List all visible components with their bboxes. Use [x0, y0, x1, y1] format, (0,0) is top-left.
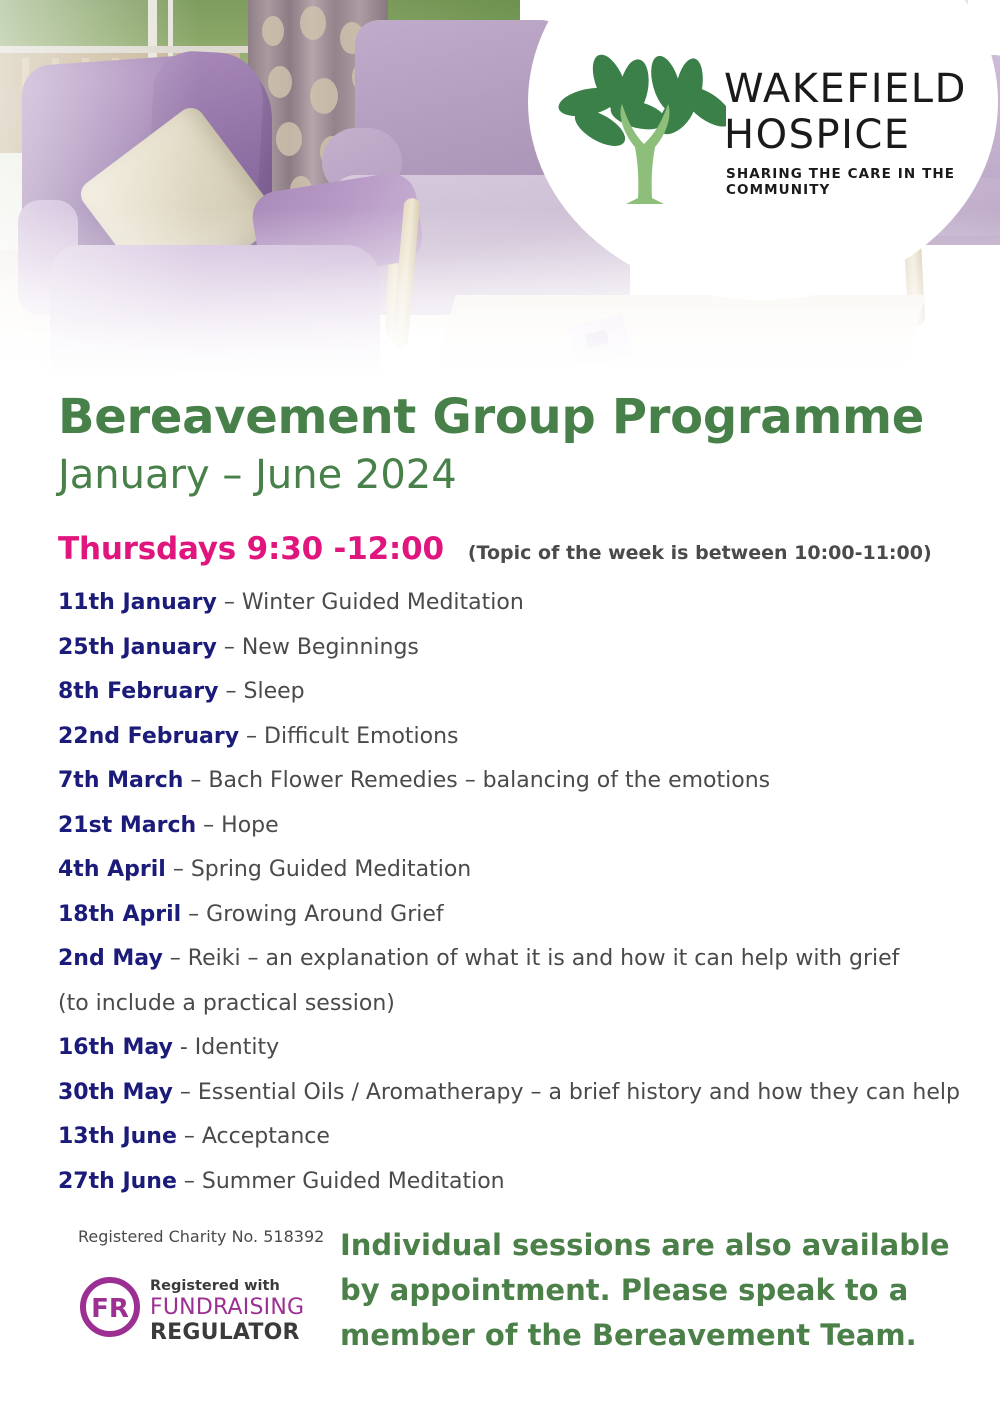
session-topic: – Hope	[196, 813, 279, 838]
session-date: 25th January	[58, 635, 217, 660]
session-date: 8th February	[58, 679, 219, 704]
fr-wordmark: Registered with FUNDRAISING REGULATOR	[150, 1277, 304, 1345]
wakefield-hospice-logo: WAKEFIELD HOSPICE SHARING THE CARE IN TH…	[556, 52, 976, 222]
session-topic: – New Beginnings	[217, 635, 419, 660]
schedule-time-heading: Thursdays 9:30 -12:00(Topic of the week …	[58, 531, 968, 565]
session-topic: – Growing Around Grief	[181, 902, 443, 927]
session-topic: – Acceptance	[177, 1124, 330, 1149]
session-topic: – Bach Flower Remedies – balancing of th…	[183, 768, 770, 793]
session-date: 16th May	[58, 1035, 173, 1060]
session-row: 21st March – Hope	[58, 813, 988, 858]
logo-name-line2: HOSPICE	[724, 112, 976, 158]
session-row: 16th May - Identity	[58, 1035, 988, 1080]
session-date: 27th June	[58, 1169, 177, 1194]
session-row: 2nd May – Reiki – an explanation of what…	[58, 946, 988, 991]
fr-line-regulator: REGULATOR	[150, 1320, 304, 1345]
session-row: 18th April – Growing Around Grief	[58, 902, 988, 947]
session-date: 7th March	[58, 768, 183, 793]
session-topic: – Summer Guided Meditation	[177, 1169, 505, 1194]
session-topic: - Identity	[173, 1035, 279, 1060]
individual-sessions-callout: Individual sessions are also available b…	[340, 1223, 980, 1358]
fr-line-registered-with: Registered with	[150, 1277, 304, 1295]
fr-badge-icon: FR	[78, 1275, 142, 1339]
session-date: 22nd February	[58, 724, 239, 749]
logo-tagline: SHARING THE CARE IN THE COMMUNITY	[726, 166, 976, 198]
logo-name-line1: WAKEFIELD	[724, 66, 976, 112]
session-topic: – Essential Oils / Aromatherapy – a brie…	[173, 1080, 960, 1105]
session-row: 27th June – Summer Guided Meditation	[58, 1169, 988, 1214]
session-date: 4th April	[58, 857, 166, 882]
fr-line-fundraising: FUNDRAISING	[150, 1295, 304, 1320]
session-row: 25th January – New Beginnings	[58, 635, 988, 680]
session-date: 13th June	[58, 1124, 177, 1149]
session-date: 2nd May	[58, 946, 163, 971]
session-date: 21st March	[58, 813, 196, 838]
session-row: 7th March – Bach Flower Remedies – balan…	[58, 768, 988, 813]
time-heading-text: Thursdays 9:30 -12:00	[58, 531, 444, 567]
session-topic: – Winter Guided Meditation	[217, 590, 524, 615]
session-topic: – Sleep	[219, 679, 305, 704]
session-row: 4th April – Spring Guided Meditation	[58, 857, 988, 902]
page-title: Bereavement Group Programme	[58, 389, 924, 445]
session-topic: – Spring Guided Meditation	[166, 857, 471, 882]
session-topic: – Difficult Emotions	[239, 724, 458, 749]
session-row: 13th June – Acceptance	[58, 1124, 988, 1169]
svg-text:FR: FR	[91, 1294, 129, 1324]
session-row: 11th January – Winter Guided Meditation	[58, 590, 988, 635]
charity-registration-line: Registered Charity No. 518392	[78, 1227, 324, 1246]
session-row: 30th May – Essential Oils / Aromatherapy…	[58, 1080, 988, 1125]
session-row: 8th February – Sleep	[58, 679, 988, 724]
tree-icon	[556, 52, 726, 222]
fundraising-regulator-logo: FR Registered with FUNDRAISING REGULATOR	[78, 1275, 308, 1351]
logo-wordmark: WAKEFIELD HOSPICE SHARING THE CARE IN TH…	[724, 66, 976, 198]
session-date: 30th May	[58, 1080, 173, 1105]
session-date: 11th January	[58, 590, 217, 615]
page-subtitle: January – June 2024	[58, 452, 457, 498]
session-row: 22nd February – Difficult Emotions	[58, 724, 988, 769]
session-list: 11th January – Winter Guided Meditation2…	[58, 590, 988, 1213]
poster-root: WAKEFIELD HOSPICE SHARING THE CARE IN TH…	[0, 0, 1000, 1414]
session-row: (to include a practical session)	[58, 991, 988, 1036]
session-topic-continuation: (to include a practical session)	[58, 991, 395, 1016]
time-heading-note: (Topic of the week is between 10:00-11:0…	[468, 542, 932, 564]
session-topic: – Reiki – an explanation of what it is a…	[163, 946, 900, 971]
session-date: 18th April	[58, 902, 181, 927]
